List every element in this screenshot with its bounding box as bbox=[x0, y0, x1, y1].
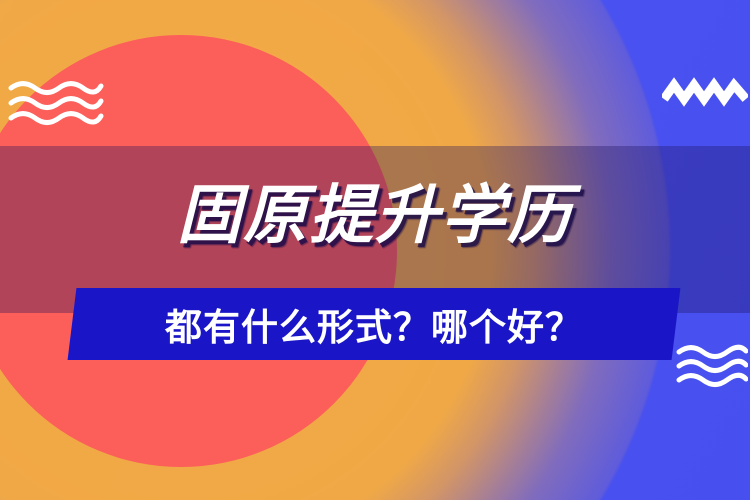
page-title: 固原提升学历 bbox=[0, 183, 750, 247]
subtitle-text: 都有什么形式？哪个好？ bbox=[72, 288, 676, 360]
text-container: 固原提升学历 都有什么形式？哪个好？ bbox=[0, 0, 750, 500]
promo-banner: 固原提升学历 都有什么形式？哪个好？ bbox=[0, 0, 750, 500]
